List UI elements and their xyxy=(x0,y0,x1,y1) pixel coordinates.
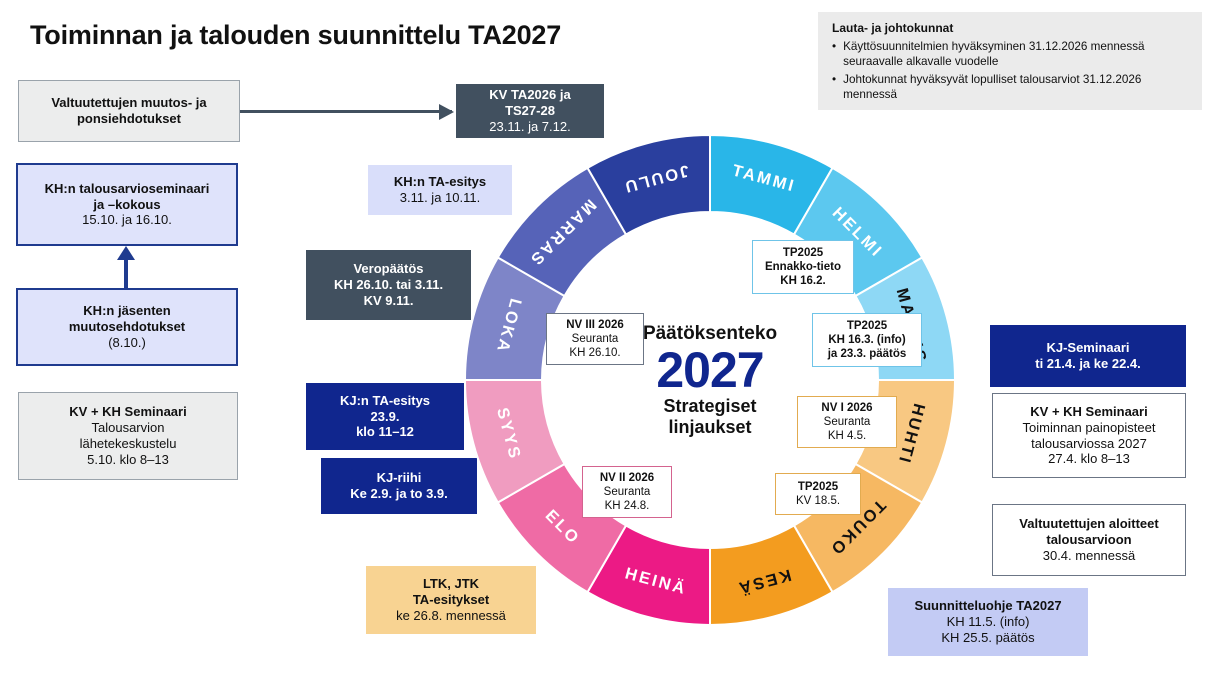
box-line: KV + KH Seminaari xyxy=(1030,404,1147,420)
box-line: KV 9.11. xyxy=(364,293,414,309)
box-valtuutettujen-aloitteet[interactable]: Valtuutettujen aloitteet talousarvioon 3… xyxy=(992,504,1186,576)
box-line: muutosehdotukset xyxy=(69,319,185,335)
box-line: 27.4. klo 8–13 xyxy=(1048,451,1130,467)
box-line: KH 26.10. tai 3.11. xyxy=(334,277,443,293)
box-line: KH 26.10. xyxy=(569,346,620,360)
box-kv-kh-seminaari-left[interactable]: KV + KH Seminaari Talousarvion lähetekes… xyxy=(18,392,238,480)
box-kj-seminaari[interactable]: KJ-Seminaari ti 21.4. ja ke 22.4. xyxy=(990,325,1186,387)
box-line: ponsiehdotukset xyxy=(77,111,181,127)
box-line: TP2025 xyxy=(847,319,887,333)
box-nv2-2026[interactable]: NV II 2026 Seuranta KH 24.8. xyxy=(582,466,672,518)
box-line: Ke 2.9. ja to 3.9. xyxy=(350,486,448,502)
box-kh-talousarvioseminaari[interactable]: KH:n talousarvioseminaari ja –kokous 15.… xyxy=(16,163,238,246)
box-line: (8.10.) xyxy=(108,335,146,351)
info-panel-heading: Lauta- ja johtokunnat xyxy=(832,21,953,36)
box-veropaatos[interactable]: Veropäätös KH 26.10. tai 3.11. KV 9.11. xyxy=(306,250,471,320)
box-tp2025-kh163[interactable]: TP2025 KH 16.3. (info) ja 23.3. päätös xyxy=(812,313,922,367)
box-line: klo 11–12 xyxy=(356,424,414,440)
bullet-icon: • xyxy=(832,39,836,70)
box-tp2025-kv185[interactable]: TP2025 KV 18.5. xyxy=(775,473,861,515)
box-kv-kh-seminaari-right[interactable]: KV + KH Seminaari Toiminnan painopisteet… xyxy=(992,393,1186,478)
box-line: ja 23.3. päätös xyxy=(828,347,907,361)
box-tp2025-ennakkotieto[interactable]: TP2025 Ennakko-tieto KH 16.2. xyxy=(752,240,854,294)
box-line: KH 4.5. xyxy=(828,429,866,443)
box-line: KH:n jäsenten xyxy=(83,303,170,319)
info-panel-lauta-ja-johtokunnat: Lauta- ja johtokunnat • Käyttösuunnitelm… xyxy=(818,12,1202,110)
box-line: TP2025 xyxy=(783,246,823,260)
wheel-svg: TAMMIHELMIMAALISHUHTITOUKOKESÄHEINÄELOSY… xyxy=(455,125,965,635)
box-line: Talousarvion xyxy=(92,420,165,436)
box-line: 15.10. ja 16.10. xyxy=(82,212,172,228)
box-line: Seuranta xyxy=(824,415,871,429)
box-line: KJ:n TA-esitys xyxy=(340,393,430,409)
box-line: NV II 2026 xyxy=(600,471,654,485)
box-kj-ta-esitys[interactable]: KJ:n TA-esitys 23.9. klo 11–12 xyxy=(306,383,464,450)
box-line: KV 18.5. xyxy=(796,494,840,508)
box-line: KH 16.2. xyxy=(780,274,825,288)
bullet-icon: • xyxy=(832,72,836,103)
box-line: Valtuutettujen muutos- ja xyxy=(51,95,206,111)
box-nv1-2026[interactable]: NV I 2026 Seuranta KH 4.5. xyxy=(797,396,897,448)
box-valtuutettujen-muutos[interactable]: Valtuutettujen muutos- ja ponsiehdotukse… xyxy=(18,80,240,142)
box-line: 5.10. klo 8–13 xyxy=(87,452,169,468)
box-line: ti 21.4. ja ke 22.4. xyxy=(1035,356,1141,372)
annual-cycle-wheel: TAMMIHELMIMAALISHUHTITOUKOKESÄHEINÄELOSY… xyxy=(455,125,965,635)
arrow-to-talousarvioseminaari xyxy=(124,258,128,288)
box-line: KV TA2026 ja xyxy=(489,87,570,103)
box-line: KV + KH Seminaari xyxy=(69,404,186,420)
box-line: talousarviossa 2027 xyxy=(1031,436,1147,452)
box-line: Toiminnan painopisteet xyxy=(1023,420,1156,436)
page-title: Toiminnan ja talouden suunnittelu TA2027 xyxy=(30,20,561,51)
box-line: 30.4. mennessä xyxy=(1043,548,1136,564)
box-line: lähetekeskustelu xyxy=(80,436,177,452)
box-line: Seuranta xyxy=(604,485,651,499)
box-line: talousarvioon xyxy=(1046,532,1131,548)
box-kh-jasenten-muutosehdotukset[interactable]: KH:n jäsenten muutosehdotukset (8.10.) xyxy=(16,288,238,366)
box-line: Ennakko-tieto xyxy=(765,260,841,274)
arrow-to-kv-ta2026 xyxy=(240,110,452,113)
box-line: KJ-riihi xyxy=(377,470,422,486)
diagram-canvas: Toiminnan ja talouden suunnittelu TA2027… xyxy=(0,0,1206,678)
box-line: NV I 2026 xyxy=(821,401,872,415)
box-line: NV III 2026 xyxy=(566,318,624,332)
box-line: KJ-Seminaari xyxy=(1046,340,1129,356)
box-line: Veropäätös xyxy=(353,261,423,277)
box-line: KH 24.8. xyxy=(605,499,650,513)
box-line: KH:n talousarvioseminaari xyxy=(45,181,210,197)
box-line: KH 16.3. (info) xyxy=(828,333,905,347)
box-line: ja –kokous xyxy=(93,197,160,213)
box-nv3-2026[interactable]: NV III 2026 Seuranta KH 26.10. xyxy=(546,313,644,365)
box-line: 23.9. xyxy=(371,409,400,425)
info-panel-bullet-1: Käyttösuunnitelmien hyväksyminen 31.12.2… xyxy=(843,39,1192,70)
box-kj-riihi[interactable]: KJ-riihi Ke 2.9. ja to 3.9. xyxy=(321,458,477,514)
box-line: Valtuutettujen aloitteet xyxy=(1019,516,1158,532)
box-line: TS27-28 xyxy=(505,103,555,119)
info-panel-bullet-2: Johtokunnat hyväksyvät lopulliset talous… xyxy=(843,72,1192,103)
box-line: Seuranta xyxy=(572,332,619,346)
box-line: TP2025 xyxy=(798,480,838,494)
